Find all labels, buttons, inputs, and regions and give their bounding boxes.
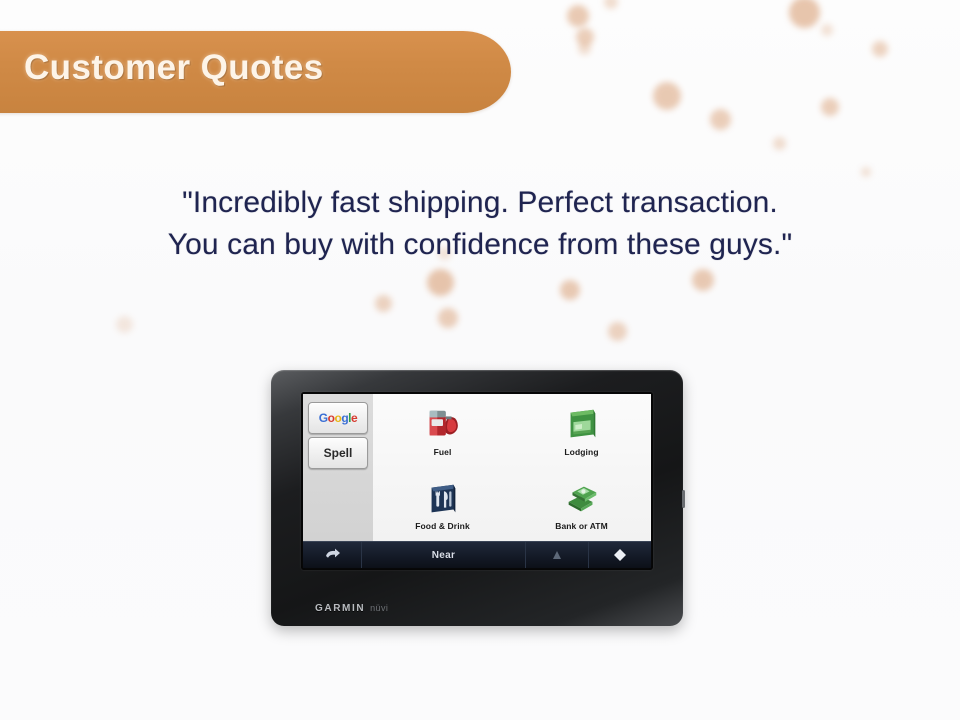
decorative-dot — [773, 137, 786, 150]
decorative-dot — [608, 322, 627, 341]
device-model-label: nüvi — [370, 603, 388, 613]
decorative-dot — [116, 316, 133, 333]
garmin-gps-device: Google Spell — [271, 370, 683, 626]
fork-knife-icon — [422, 479, 464, 519]
poi-label-food-drink: Food & Drink — [415, 521, 470, 531]
fuel-pump-icon — [422, 405, 464, 445]
poi-label-fuel: Fuel — [434, 447, 452, 457]
poi-category-fuel[interactable]: Fuel — [373, 394, 512, 468]
decorative-dot — [861, 167, 871, 177]
decorative-dot — [821, 24, 833, 36]
decorative-dot — [692, 269, 714, 291]
back-button[interactable] — [303, 542, 362, 568]
volume-button[interactable] — [526, 542, 589, 568]
screenshot-stage: Customer Quotes "Incredibly fast shippin… — [0, 0, 960, 720]
decorative-dot — [438, 308, 458, 328]
money-icon — [561, 479, 603, 519]
google-letter-g: G — [319, 411, 328, 425]
near-button[interactable]: Near — [362, 542, 526, 568]
customer-quote: "Incredibly fast shipping. Perfect trans… — [0, 182, 960, 266]
spell-button[interactable]: Spell — [308, 437, 368, 469]
device-branding: GARMIN nüvi — [315, 603, 388, 614]
decorative-dot — [604, 0, 618, 9]
decorative-dot — [653, 82, 681, 110]
page-title: Customer Quotes — [24, 48, 324, 88]
back-arrow-icon — [323, 548, 341, 562]
screen-side-panel: Google Spell — [303, 394, 373, 542]
google-search-button[interactable]: Google — [308, 402, 368, 434]
poi-category-grid: Fuel Lodging — [373, 394, 651, 542]
volume-icon — [550, 549, 564, 561]
decorative-dot — [710, 109, 731, 130]
decorative-dot — [375, 295, 392, 312]
device-side-button[interactable] — [682, 490, 685, 508]
near-label: Near — [432, 550, 455, 561]
decorative-dot — [576, 28, 594, 46]
poi-category-bank-atm[interactable]: Bank or ATM — [512, 468, 651, 542]
battery-button[interactable] — [589, 542, 651, 568]
screen-content: Google Spell — [303, 394, 651, 542]
decorative-dot — [567, 5, 589, 27]
poi-label-lodging: Lodging — [564, 447, 598, 457]
device-screen[interactable]: Google Spell — [303, 394, 651, 568]
decorative-dot — [821, 98, 839, 116]
decorative-dot — [427, 269, 454, 296]
quote-line-1: "Incredibly fast shipping. Perfect trans… — [0, 182, 960, 224]
google-logo-icon: Google — [319, 411, 357, 425]
quote-line-2: You can buy with confidence from these g… — [0, 224, 960, 266]
decorative-dot — [872, 41, 888, 57]
garmin-wordmark: GARMIN — [315, 603, 365, 614]
poi-category-lodging[interactable]: Lodging — [512, 394, 651, 468]
screen-bottom-bar: Near — [303, 541, 651, 568]
decorative-dot — [789, 0, 820, 28]
bed-icon — [561, 405, 603, 445]
device-screen-bezel: Google Spell — [301, 392, 653, 570]
decorative-dot — [560, 280, 580, 300]
header-banner: Customer Quotes — [0, 31, 511, 113]
poi-category-food-drink[interactable]: Food & Drink — [373, 468, 512, 542]
decorative-dot — [578, 42, 591, 55]
poi-label-bank-atm: Bank or ATM — [555, 521, 608, 531]
battery-icon — [612, 548, 628, 562]
google-letter-e: e — [351, 411, 357, 425]
